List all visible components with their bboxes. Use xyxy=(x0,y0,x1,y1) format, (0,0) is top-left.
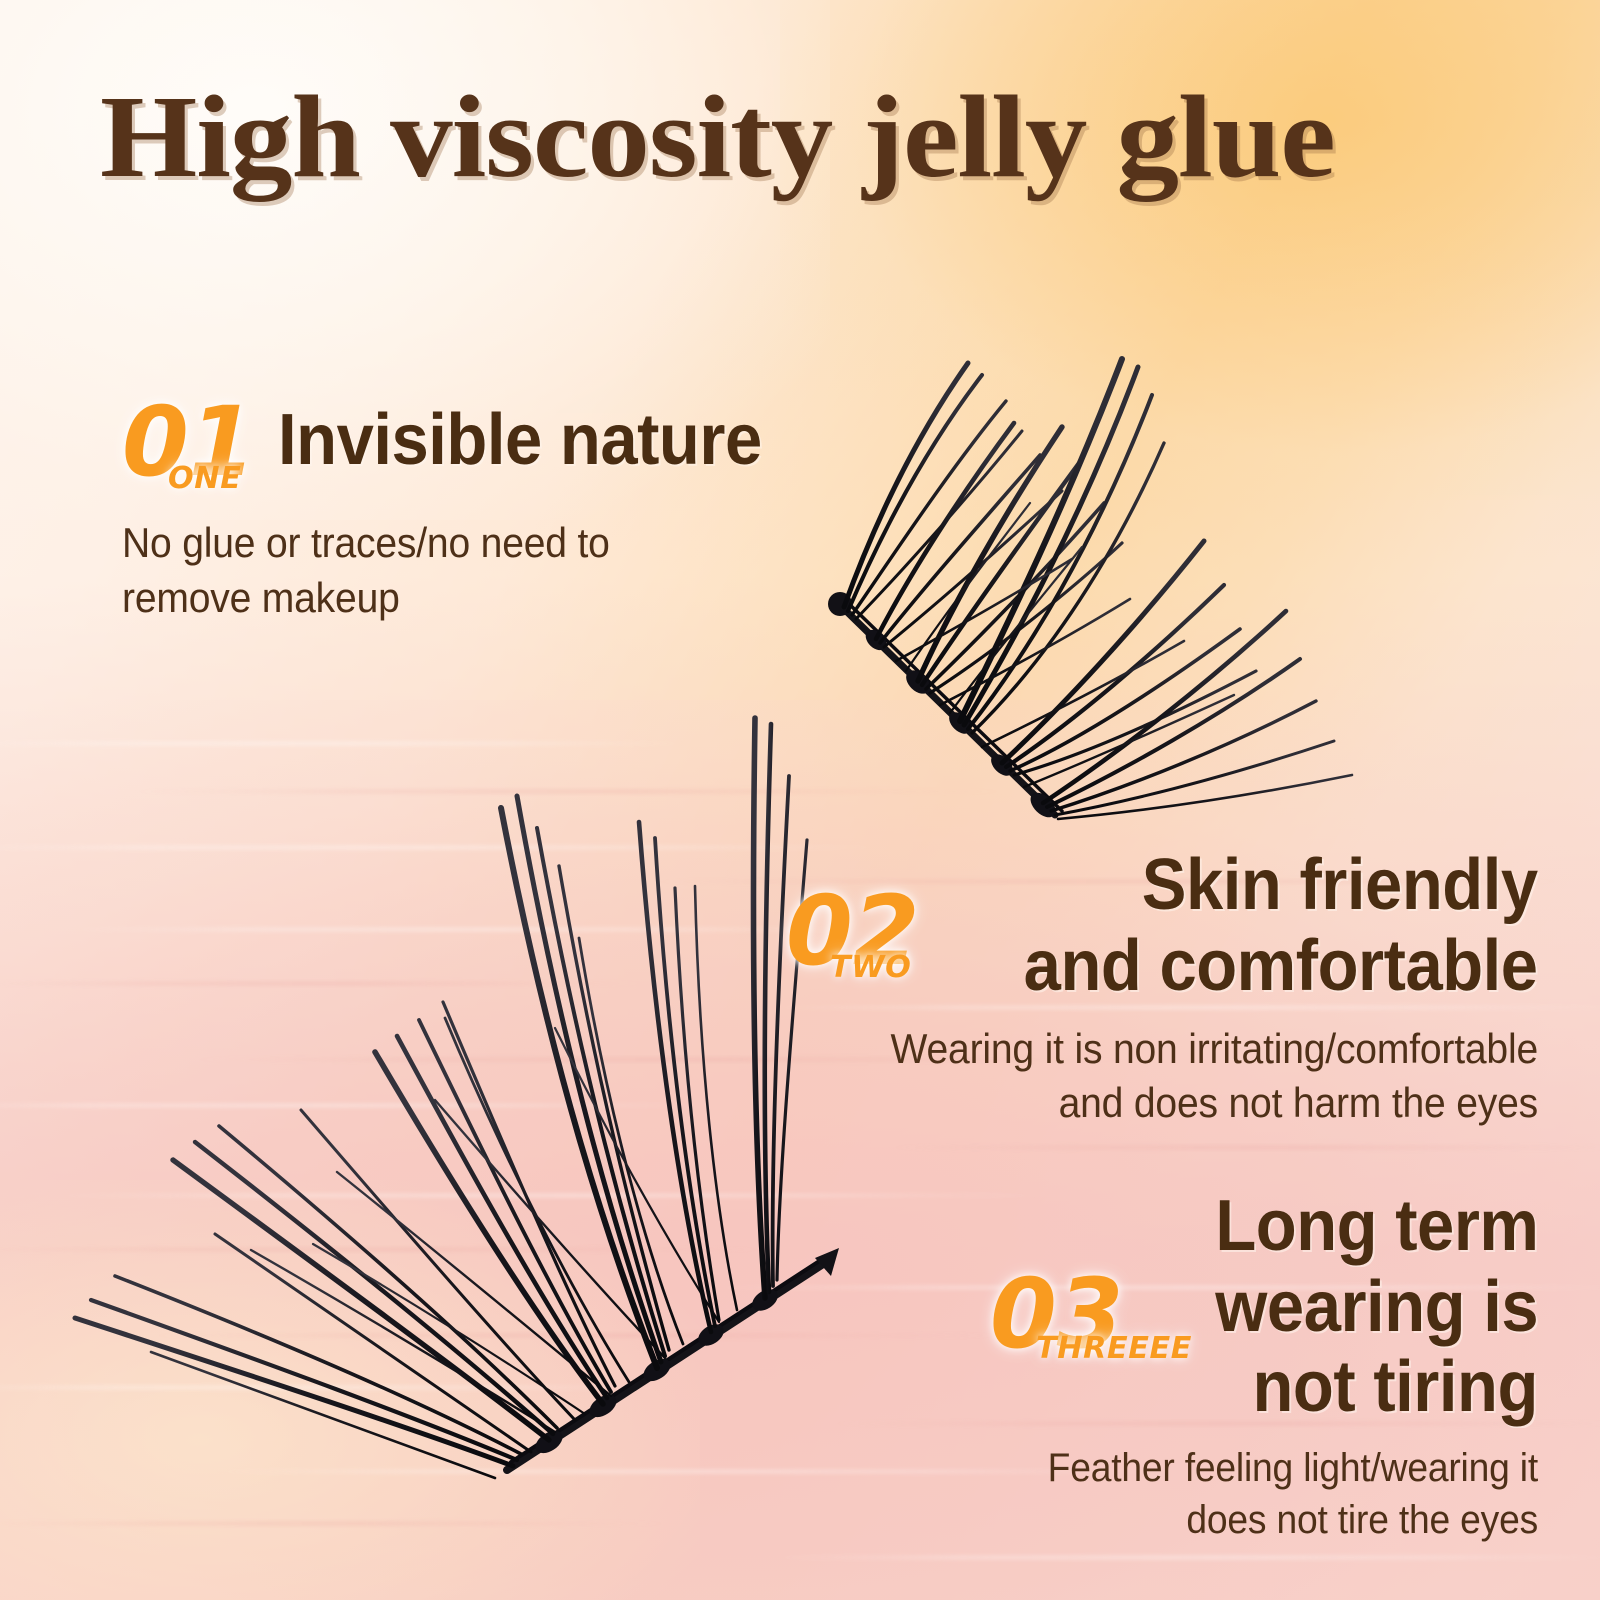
feature-01-number-word: ONE xyxy=(168,465,241,493)
false-eyelash-cluster-lower xyxy=(55,680,855,1480)
feature-02-number: 02 TWO xyxy=(786,887,920,975)
feature-03-heading-line-3: not tiring xyxy=(1253,1347,1538,1428)
feature-03-number: 03 THREEEE xyxy=(990,1270,1124,1358)
feature-block-03: 03 THREEEE Long term wearing is not tiri… xyxy=(990,1186,1538,1546)
feature-02-body: Wearing it is non irritating/comfortable… xyxy=(839,1022,1538,1130)
feature-01-body: No glue or traces/no need to remove make… xyxy=(122,516,680,625)
feature-03-heading-line-1: Long term xyxy=(1215,1186,1538,1267)
feature-01-number: 01 ONE xyxy=(122,398,256,486)
feature-02-heading-row: 02 TWO Skin friendly and comfortable xyxy=(786,845,1538,1006)
product-feature-poster: High viscosity jelly glue xyxy=(0,0,1600,1600)
feature-02-heading-line-2: and comfortable xyxy=(1024,926,1538,1007)
feature-03-body: Feather feeling light/wearing it does no… xyxy=(1028,1442,1538,1546)
page-title: High viscosity jelly glue xyxy=(100,78,1600,196)
feature-03-heading-row: 03 THREEEE Long term wearing is not tiri… xyxy=(990,1186,1538,1428)
feature-03-number-word: THREEEE xyxy=(1036,1335,1192,1363)
feature-02-number-word: TWO xyxy=(830,954,912,982)
feature-block-02: 02 TWO Skin friendly and comfortable Wea… xyxy=(786,845,1538,1130)
feature-01-heading-row: 01 ONE Invisible nature xyxy=(122,398,798,486)
feature-01-heading: Invisible nature xyxy=(278,404,762,476)
false-eyelash-cluster-upper xyxy=(800,255,1380,835)
feature-block-01: 01 ONE Invisible nature No glue or trace… xyxy=(122,398,798,626)
feature-03-heading-line-2: wearing is xyxy=(1215,1267,1538,1348)
feature-02-heading-line-1: Skin friendly xyxy=(1142,845,1538,926)
warm-streak-decoration xyxy=(0,1180,700,1600)
